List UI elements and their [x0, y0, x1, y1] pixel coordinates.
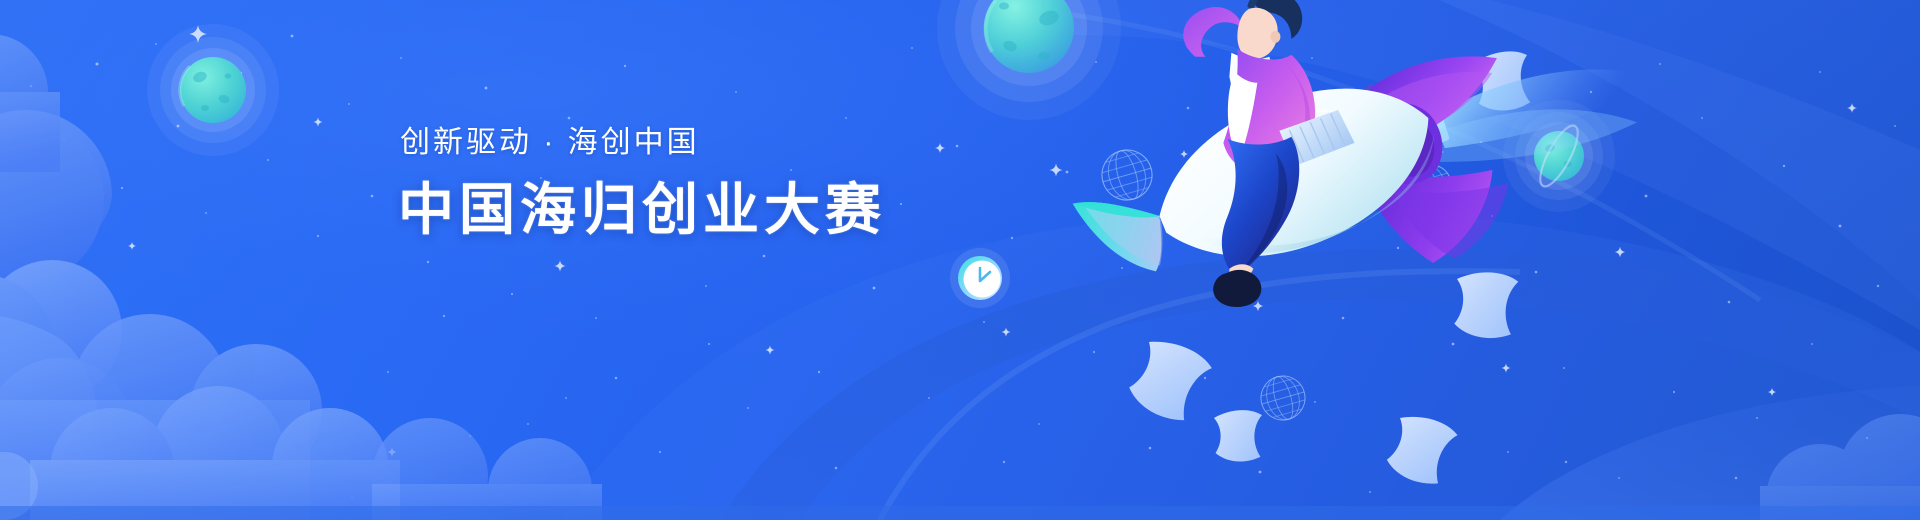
rocket-nozzle [1359, 92, 1455, 195]
rider-group [1183, 0, 1356, 307]
background-arcs [0, 0, 1920, 520]
banner-title: 中国海归创业大赛 [398, 182, 886, 238]
paper-small [1208, 405, 1271, 467]
planet-layer [0, 0, 1920, 520]
laptop [1278, 108, 1357, 168]
banner-subtitle: 创新驱动 · 海创中国 [400, 128, 886, 158]
rider-jacket [1223, 49, 1315, 173]
paper-layer [0, 0, 1920, 520]
rider-hair-tuft [1247, 0, 1275, 11]
arc-sweep-upper [1020, 0, 1920, 300]
globe-upper [1096, 144, 1158, 206]
rider-ankle [1229, 264, 1253, 278]
rider-leg-shade [1239, 153, 1287, 273]
rocket-fin-top [1366, 36, 1513, 147]
cloud-bottom-left [0, 314, 322, 520]
banner-root: 创新驱动 · 海创中国 中国海归创业大赛 [0, 0, 1920, 520]
headline-block: 创新驱动 · 海创中国 中国海归创业大赛 [398, 128, 886, 238]
calendar-icon-layer [0, 0, 1920, 520]
planet-top-right [937, 0, 1121, 120]
globe-mid [1401, 159, 1458, 216]
planet-ring [1533, 121, 1584, 191]
paper-bottom [1384, 413, 1459, 487]
star-field [0, 0, 1920, 520]
planet-ringed [1503, 100, 1615, 212]
arc-streak [880, 271, 1520, 520]
calendar-icon [1353, 68, 1450, 163]
rocket-fin-bottom [1360, 120, 1527, 279]
globe-lower [1256, 371, 1310, 425]
cloud-far-left [0, 110, 112, 286]
exhaust-trail [1420, 31, 1668, 198]
planet-top-left [147, 24, 279, 156]
cloud-bottom-center [372, 418, 602, 520]
paper-left [1124, 336, 1215, 426]
rider-jacket-shade [1269, 65, 1310, 173]
bottom-divider [0, 506, 1920, 520]
arc-light-lower [560, 210, 1920, 520]
cloud-upper-left-small [0, 34, 60, 172]
cloud-lower-left [0, 260, 122, 520]
globe-layer [0, 0, 1920, 520]
paper-mid [1449, 269, 1524, 342]
arc-ribbon-dark [720, 249, 1920, 520]
rider-ear [1270, 31, 1280, 43]
rocket-group [1013, 0, 1691, 391]
rider-shoe [1213, 270, 1261, 307]
paper-right [1466, 44, 1542, 119]
rider-legs [1222, 137, 1299, 277]
rider-arm [1183, 7, 1243, 57]
cloud-right-edge [1760, 414, 1920, 520]
astronaut-riding-rocket [0, 0, 1920, 520]
rocket-nose [1073, 175, 1179, 291]
clock-icon [950, 248, 1010, 308]
rider-shirt-front [1228, 71, 1258, 159]
cloud-layer [0, 0, 1920, 520]
arc-wedge-bottom-right [1500, 386, 1920, 520]
arc-sweep-upper-2 [990, 0, 1920, 330]
arc-streak-2 [1030, 10, 1760, 300]
rocket-stripe [1222, 87, 1338, 155]
cloud-bottom-left-2 [30, 386, 400, 520]
rocket-body [1136, 51, 1456, 294]
rider-shirt [1229, 53, 1272, 123]
rider-hair [1253, 0, 1302, 39]
rider-head [1237, 8, 1277, 59]
clock-icon-layer [0, 0, 1920, 520]
